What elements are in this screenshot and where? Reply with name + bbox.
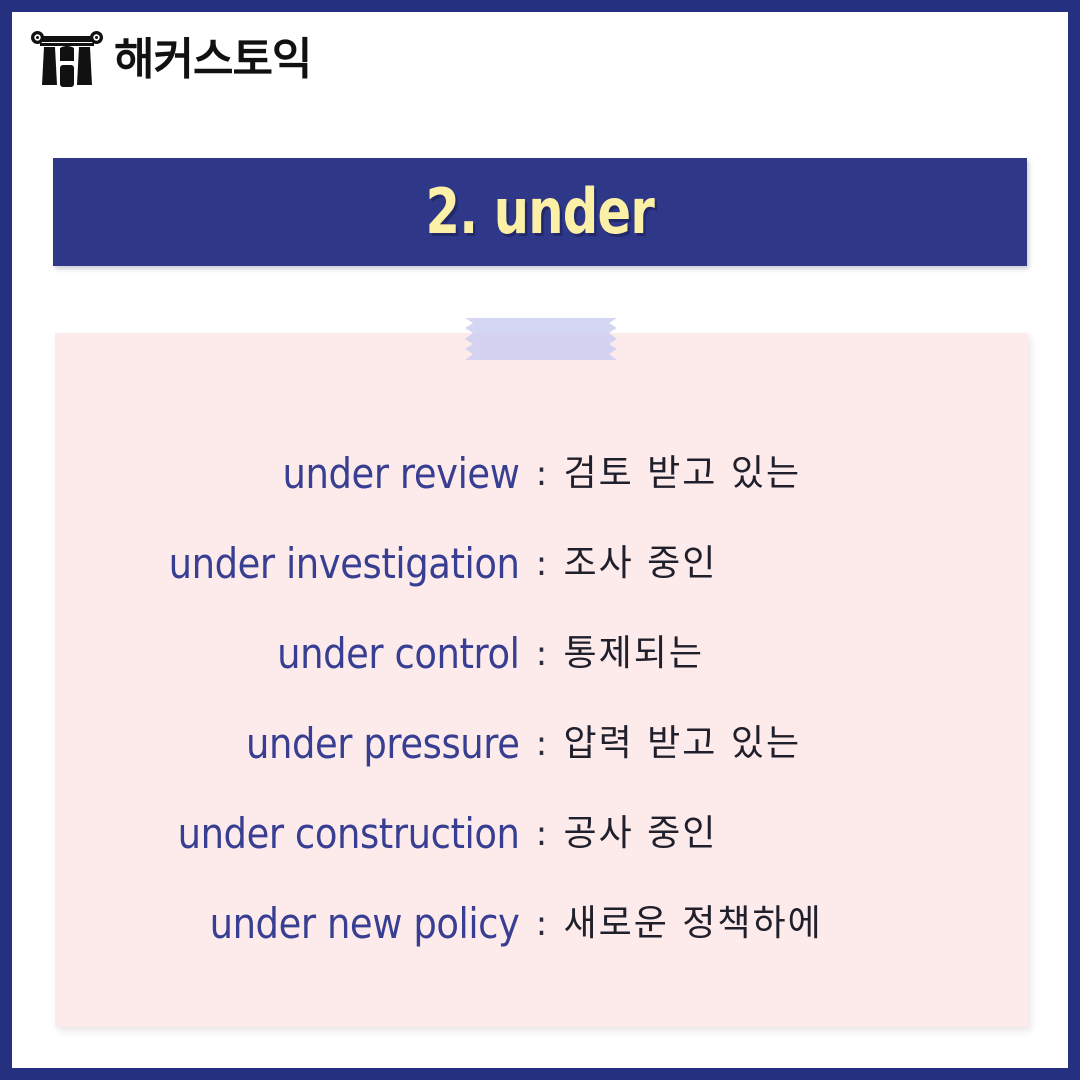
phrase-separator: :	[520, 727, 564, 761]
phrase-separator: :	[520, 817, 564, 851]
phrase-korean: 압력 받고 있는	[564, 726, 1029, 762]
phrase-row: under construction : 공사 중인	[55, 789, 1028, 879]
phrase-row: under pressure : 압력 받고 있는	[55, 699, 1028, 789]
title-banner: 2. under	[53, 158, 1027, 266]
phrase-list: under review : 검토 받고 있는 under investigat…	[55, 333, 1028, 1027]
phrase-row: under new policy : 새로운 정책하에	[55, 879, 1028, 969]
phrase-separator: :	[520, 907, 564, 941]
phrase-row: under review : 검토 받고 있는	[55, 429, 1028, 519]
phrase-row: under investigation : 조사 중인	[55, 519, 1028, 609]
page-title: 2. under	[426, 181, 654, 243]
phrase-english: under new policy	[111, 903, 520, 945]
phrase-korean: 새로운 정책하에	[564, 906, 1029, 942]
phrase-separator: :	[520, 547, 564, 581]
phrase-separator: :	[520, 637, 564, 671]
phrase-korean: 통제되는	[564, 636, 1029, 672]
phrase-english: under investigation	[111, 543, 520, 585]
phrase-english: under pressure	[111, 723, 520, 765]
phrase-korean: 검토 받고 있는	[564, 456, 1029, 492]
phrase-row: under control : 통제되는	[55, 609, 1028, 699]
phrase-english: under control	[111, 633, 520, 675]
slide-card: 해커스토익 2. under under review : 검토 받고 있는 u…	[0, 0, 1080, 1080]
phrase-separator: :	[520, 457, 564, 491]
phrase-korean: 조사 중인	[564, 546, 1029, 582]
phrase-korean: 공사 중인	[564, 816, 1029, 852]
brand-logo: 해커스토익	[30, 24, 311, 96]
phrase-english: under review	[111, 453, 520, 495]
phrase-english: under construction	[111, 813, 520, 855]
greek-column-gate-icon	[30, 30, 104, 90]
slide-sheet: 해커스토익 2. under under review : 검토 받고 있는 u…	[12, 12, 1068, 1068]
brand-name: 해커스토익	[114, 38, 311, 82]
